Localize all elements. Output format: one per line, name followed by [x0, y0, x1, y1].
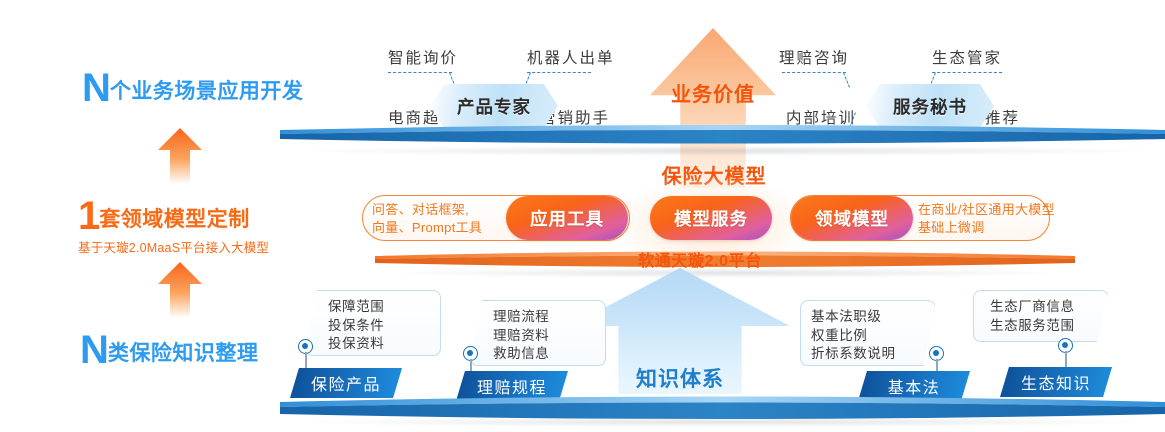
knowledge-line: 权重比例: [811, 327, 935, 346]
domain-model-button-label: 领域模型: [815, 206, 889, 231]
model-service-button-label: 模型服务: [674, 206, 748, 231]
knowledge-box-insurance-product: 保障范围 投保条件 投保资料: [305, 290, 441, 356]
infographic-canvas: N个业务场景应用开发 1套领域模型定制 基于天璇2.0MaaS平台接入大模型 N…: [0, 0, 1165, 432]
rail-arrow-lower: [158, 262, 202, 318]
knowledge-line: 生态厂商信息: [990, 298, 1108, 317]
knowledge-tab-ecosystem[interactable]: 生态知识: [1000, 367, 1112, 397]
domain-model-note: 在商业/社区通用大模型 基础上微调: [918, 201, 1055, 236]
rail-label-top: N个业务场景应用开发: [82, 68, 303, 108]
connector-dash: [932, 72, 1002, 73]
connector-dash: [527, 72, 591, 73]
hex-right-label: 服务秘书: [893, 94, 967, 119]
domain-model-note-line1: 在商业/社区通用大模型: [918, 201, 1055, 219]
knowledge-tab-label: 保险产品: [311, 371, 381, 395]
knowledge-line: 生态服务范围: [990, 317, 1108, 336]
rail-mid-number: 1: [78, 194, 99, 238]
satellite-label-1: 智能询价: [388, 46, 458, 68]
knowledge-line: 理赔资料: [493, 327, 605, 346]
connector-dash: [388, 72, 452, 73]
rail-label-bottom: N类保险知识整理: [80, 330, 258, 370]
knowledge-stem: [936, 359, 938, 372]
app-tools-note-line2: 向量、Prompt工具: [372, 219, 482, 237]
knowledge-line: 投保条件: [328, 317, 440, 336]
ground-shadow: [295, 417, 1155, 427]
satellite-label-6: 生态管家: [932, 46, 1002, 68]
rail-label-middle: 1套领域模型定制 基于天璇2.0MaaS平台接入大模型: [78, 196, 269, 256]
ground-shadow: [300, 146, 1150, 156]
rail-top-number: N: [82, 66, 110, 110]
knowledge-line: 理赔流程: [493, 308, 605, 327]
knowledge-line: 保障范围: [328, 298, 440, 317]
business-value-label: 业务价值: [651, 78, 775, 107]
knowledge-system-label: 知识体系: [600, 363, 760, 393]
app-tools-button-label: 应用工具: [530, 206, 604, 231]
knowledge-box-claims-process: 理赔流程 理赔资料 救助信息: [470, 300, 606, 366]
knowledge-line: 投保资料: [328, 335, 440, 354]
rail-bottom-number: N: [80, 328, 108, 372]
satellite-label-2: 机器人出单: [527, 46, 615, 68]
knowledge-box-basic-law: 基本法职级 权重比例 折标系数说明: [800, 300, 936, 366]
knowledge-line: 基本法职级: [811, 308, 935, 327]
tianxuan-platform-label: 软通天璇2.0平台: [575, 247, 825, 271]
scenario-node-product-expert[interactable]: 产品专家: [430, 84, 558, 128]
app-tools-button[interactable]: 应用工具: [506, 196, 628, 240]
domain-model-note-line2: 基础上微调: [918, 219, 1055, 237]
knowledge-box-ecosystem: 生态厂商信息 生态服务范围: [973, 290, 1109, 342]
knowledge-tab-label: 生态知识: [1021, 370, 1091, 394]
rail-mid-subtitle: 基于天璇2.0MaaS平台接入大模型: [78, 237, 269, 256]
app-tools-note-line1: 问答、对话框架,: [372, 201, 482, 219]
hex-left-label: 产品专家: [457, 94, 531, 119]
knowledge-stem: [470, 359, 472, 372]
connector-dash: [782, 72, 846, 73]
knowledge-stem: [1065, 351, 1067, 368]
rail-top-text: 个业务场景应用开发: [110, 80, 304, 103]
app-tools-note: 问答、对话框架, 向量、Prompt工具: [372, 201, 482, 236]
knowledge-line: 折标系数说明: [811, 345, 935, 364]
rail-arrow-upper: [158, 128, 202, 184]
domain-model-button[interactable]: 领域模型: [791, 196, 913, 240]
knowledge-stem: [305, 352, 307, 370]
rail-mid-text: 套领域模型定制: [99, 208, 250, 231]
connector-dash: [843, 72, 850, 87]
model-service-button[interactable]: 模型服务: [650, 196, 772, 240]
scenario-node-service-secretary[interactable]: 服务秘书: [866, 84, 994, 128]
satellite-label-5: 理赔咨询: [779, 46, 849, 68]
rail-bottom-text: 类保险知识整理: [108, 342, 259, 365]
knowledge-line: 救助信息: [493, 345, 605, 364]
